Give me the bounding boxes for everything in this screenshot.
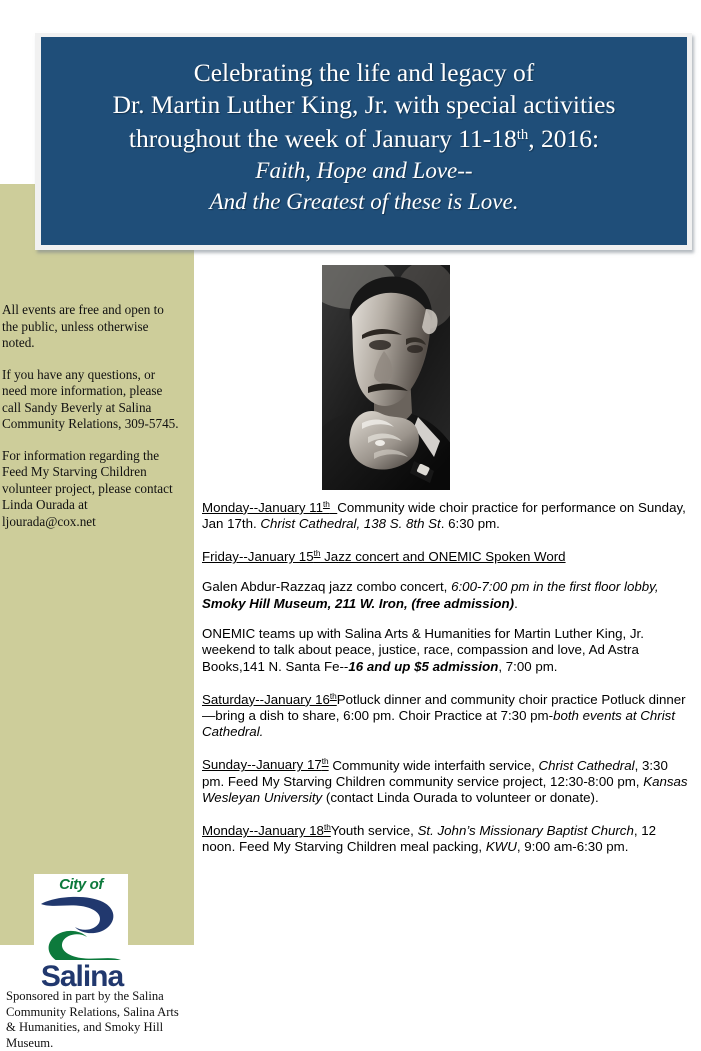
event-heading: Saturday--January 16th	[202, 692, 337, 707]
event-venue-2: KWU	[486, 839, 517, 854]
banner-line-3-text: throughout the week of January 11-18	[129, 124, 517, 153]
event-paragraph-onemic: ONEMIC teams up with Salina Arts & Human…	[202, 626, 691, 675]
event-day-label: Friday--January 15	[202, 549, 314, 564]
event-venue: Christ Cathedral	[539, 757, 635, 772]
event-day-label: Monday--January 11	[202, 500, 323, 515]
event-venue: Christ Cathedral, 138 S. 8th St	[260, 516, 440, 531]
event-body-text: Community wide interfaith service,	[329, 757, 539, 772]
sidebar-notes: All events are free and open to the publ…	[0, 302, 194, 545]
city-of-salina-logo: City of Salina	[34, 874, 128, 970]
event-friday-jan-15: Friday--January 15th Jazz concert and ON…	[202, 546, 691, 675]
event-monday-jan-18: Monday--January 18thYouth service, St. J…	[202, 820, 691, 855]
event-heading: Friday--January 15th Jazz concert and ON…	[202, 549, 566, 564]
banner-line-4: Faith, Hope and Love--	[41, 155, 687, 186]
event-day-ordinal: th	[322, 758, 329, 767]
event-body-text-3: , 9:00 am-6:30 pm.	[517, 839, 629, 854]
banner-line-3: throughout the week of January 11-18th, …	[41, 120, 687, 155]
banner-line-2: Dr. Martin Luther King, Jr. with special…	[41, 89, 687, 121]
event-heading-row: Friday--January 15th Jazz concert and ON…	[202, 546, 691, 565]
banner-line-1: Celebrating the life and legacy of	[41, 57, 687, 89]
banner-line-3-ordinal: th	[517, 127, 529, 143]
sidebar-note-fmsc: For information regarding the Feed My St…	[2, 448, 180, 531]
event-body-text-2: .	[514, 596, 518, 611]
event-day-label: Saturday--January 16	[202, 692, 330, 707]
event-body-text-2: . 6:30 pm.	[441, 516, 500, 531]
event-heading-tail: Jazz concert and ONEMIC Spoken Word	[320, 549, 565, 564]
mlk-portrait-photo	[322, 265, 450, 490]
event-saturday-jan-16: Saturday--January 16thPotluck dinner and…	[202, 689, 691, 741]
event-body-text: Youth service,	[331, 823, 418, 838]
event-body-text: Galen Abdur-Razzaq jazz combo concert,	[202, 579, 451, 594]
event-venue: St. John’s Missionary Baptist Church	[418, 823, 634, 838]
event-day-ordinal: th	[324, 823, 331, 832]
mlk-portrait-illustration	[322, 265, 450, 490]
event-admission-highlight: 16 and up $5 admission	[348, 659, 498, 674]
banner-line-5: And the Greatest of these is Love.	[41, 186, 687, 217]
logo-city-of-text: City of	[34, 876, 128, 893]
header-banner: Celebrating the life and legacy of Dr. M…	[35, 33, 692, 250]
event-heading: Monday--January 18th	[202, 823, 331, 838]
event-day-ordinal: th	[323, 500, 330, 509]
event-day-label: Sunday--January 17	[202, 757, 322, 772]
left-sidebar: All events are free and open to the publ…	[0, 184, 194, 945]
banner-line-3-year: , 2016:	[528, 124, 599, 153]
sidebar-note-free-events: All events are free and open to the publ…	[2, 302, 180, 352]
sidebar-note-contact: If you have any questions, or need more …	[2, 367, 180, 433]
event-sunday-jan-17: Sunday--January 17th Community wide inte…	[202, 755, 691, 807]
salina-swoosh-icon	[37, 894, 125, 970]
sponsor-credit: Sponsored in part by the Salina Communit…	[6, 989, 186, 1051]
event-venue-highlight: Smoky Hill Museum, 211 W. Iron, (free ad…	[202, 596, 514, 611]
event-day-ordinal: th	[330, 692, 337, 701]
event-paragraph-jazz: Galen Abdur-Razzaq jazz combo concert, 6…	[202, 579, 691, 612]
event-time-location: 6:00-7:00 pm in the first floor lobby,	[451, 579, 658, 594]
event-heading: Sunday--January 17th	[202, 757, 329, 772]
event-body-text-4: , 7:00 pm.	[498, 659, 557, 674]
event-heading: Monday--January 11th	[202, 500, 337, 515]
events-list: Monday--January 11th Community wide choi…	[202, 497, 691, 856]
event-body-text-3: (contact Linda Ourada to volunteer or do…	[322, 790, 598, 805]
event-day-label: Monday--January 18	[202, 823, 324, 838]
event-monday-jan-11: Monday--January 11th Community wide choi…	[202, 497, 691, 532]
